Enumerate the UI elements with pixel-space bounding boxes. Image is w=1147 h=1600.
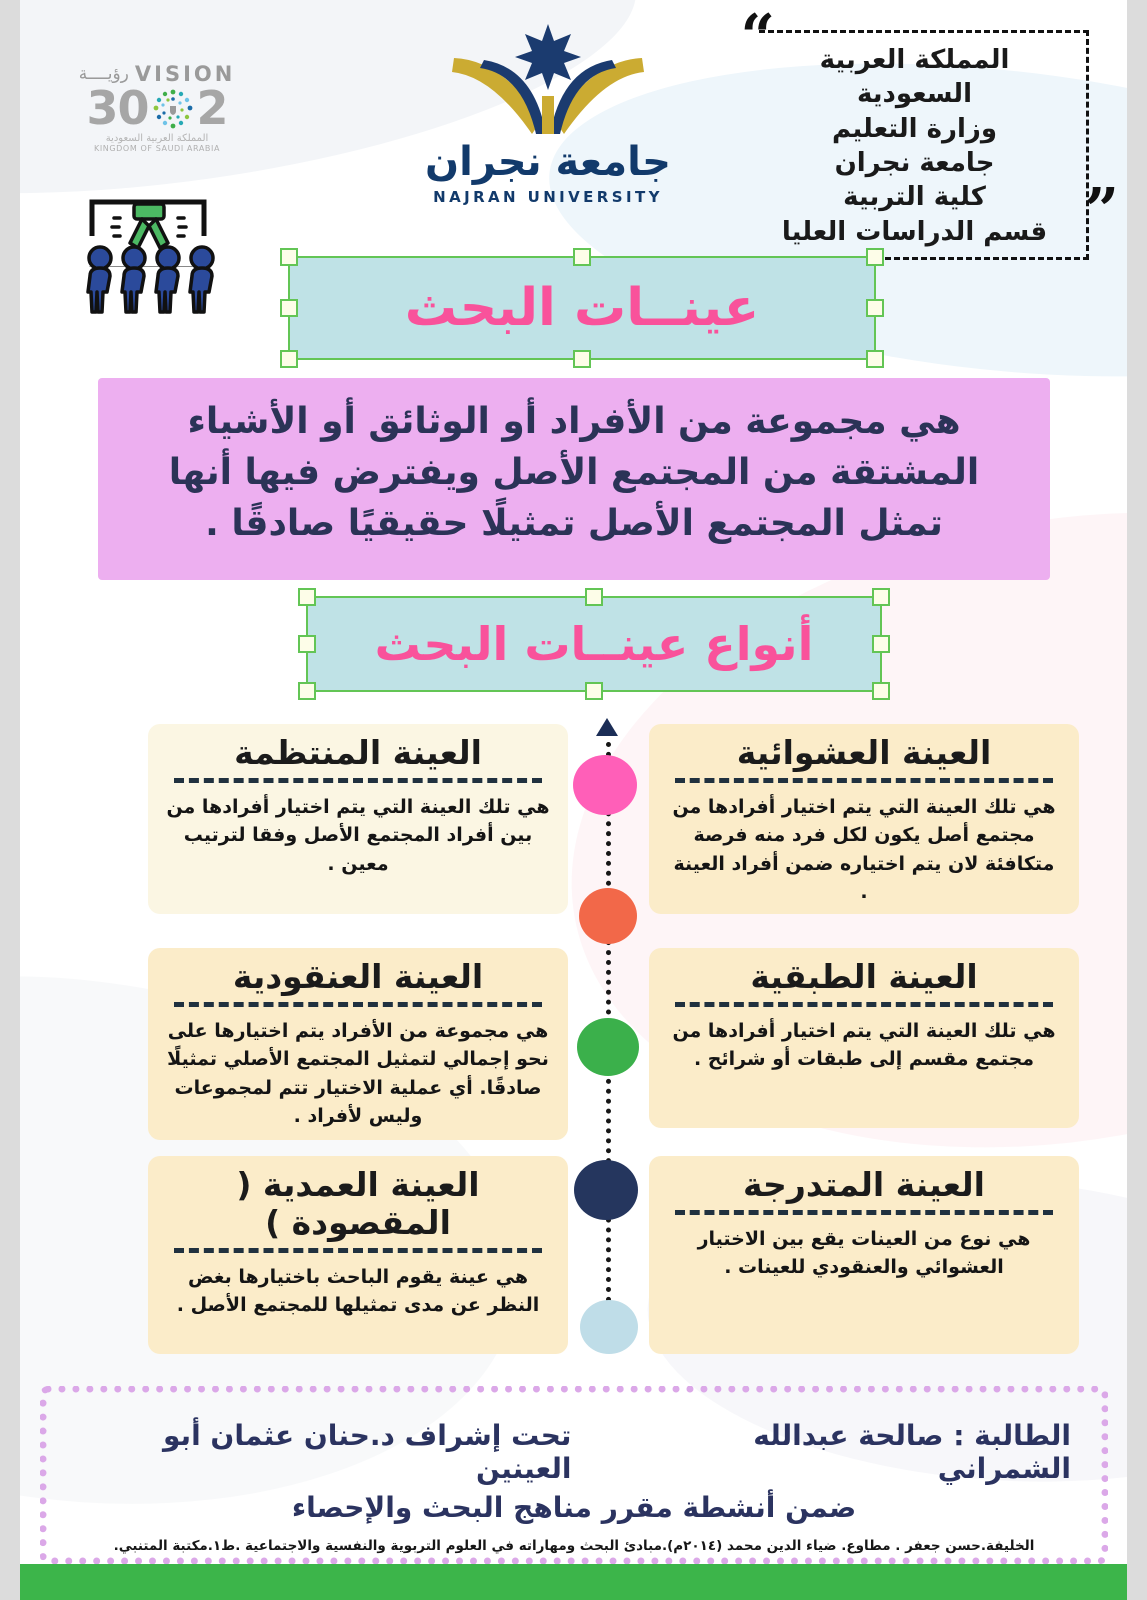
bottom-green-bar bbox=[20, 1564, 1127, 1600]
resize-handle-top-left[interactable] bbox=[280, 248, 298, 266]
resize-handle-top-right[interactable] bbox=[866, 248, 884, 266]
page-title: عينــات البحث bbox=[405, 282, 760, 334]
resize-handle-middle-left[interactable] bbox=[280, 299, 298, 317]
resize-handle-bottom-center[interactable] bbox=[573, 350, 591, 368]
card-body: هي تلك العينة التي يتم اختيار أفرادها من… bbox=[667, 793, 1061, 907]
institution-header-box: المملكة العربية السعودية وزارة التعليم ج… bbox=[759, 30, 1089, 260]
timeline-dot-3 bbox=[577, 1018, 639, 1076]
types-resize-handle-top-right[interactable] bbox=[872, 588, 890, 606]
timeline-dot-1 bbox=[573, 755, 637, 815]
resize-handle-top-center[interactable] bbox=[573, 248, 591, 266]
main-title-box[interactable]: عينــات البحث bbox=[288, 256, 876, 360]
types-title: أنواع عينــات البحث bbox=[375, 621, 814, 667]
types-resize-handle-top-center[interactable] bbox=[585, 588, 603, 606]
poster-canvas: VISION رؤيــــة 2 bbox=[0, 0, 1147, 1600]
types-resize-handle-bottom-left[interactable] bbox=[298, 682, 316, 700]
supervisor-name: تحت إشراف د.حنان عثمان أبو العينين bbox=[77, 1419, 571, 1485]
card-cluster-sample: العينة العنقودية هي مجموعة من الأفراد يت… bbox=[148, 948, 568, 1140]
card-title: العينة العمدية ( المقصودة ) bbox=[166, 1166, 550, 1242]
card-title: العينة العشوائية bbox=[667, 734, 1061, 772]
timeline-dot-4 bbox=[574, 1160, 638, 1220]
card-title: العينة العنقودية bbox=[166, 958, 550, 996]
card-multistage-sample: العينة المتدرجة هي نوع من العينات يقع بي… bbox=[649, 1156, 1079, 1354]
left-page-margin bbox=[0, 0, 20, 1600]
institution-line-1: وزارة التعليم bbox=[769, 112, 1060, 146]
card-body: هي عينة يقوم الباحث باختيارها بغض النظر … bbox=[166, 1263, 550, 1320]
vision-subtitle-english: KINGDOM OF SAUDI ARABIA bbox=[72, 144, 242, 153]
card-divider bbox=[675, 778, 1053, 783]
timeline-arrow-icon bbox=[596, 718, 618, 736]
card-title: العينة المنتظمة bbox=[166, 734, 550, 772]
vision-mandala-icon bbox=[150, 86, 196, 132]
vision-number-left: 2 bbox=[197, 87, 228, 131]
quote-close-icon: ” bbox=[1084, 190, 1119, 232]
types-resize-handle-middle-right[interactable] bbox=[872, 635, 890, 653]
university-name-arabic: جامعة نجران bbox=[398, 142, 698, 182]
right-page-margin bbox=[1127, 0, 1147, 1600]
card-divider bbox=[675, 1210, 1053, 1215]
types-resize-handle-bottom-center[interactable] bbox=[585, 682, 603, 700]
institution-line-3: كلية التربية bbox=[769, 180, 1060, 214]
najran-university-logo: جامعة نجران NAJRAN UNIVERSITY bbox=[398, 18, 698, 198]
najran-emblem-icon bbox=[398, 18, 698, 136]
types-resize-handle-bottom-right[interactable] bbox=[872, 682, 890, 700]
card-body: هي نوع من العينات يقع بين الاختيار العشو… bbox=[667, 1225, 1061, 1282]
timeline-dot-5 bbox=[580, 1300, 638, 1354]
footer-credits-row: الطالبة : صالحة عبدالله الشمراني تحت إشر… bbox=[77, 1419, 1071, 1485]
card-body: هي مجموعة من الأفراد يتم اختيارها على نح… bbox=[166, 1017, 550, 1131]
footer-box: الطالبة : صالحة عبدالله الشمراني تحت إشر… bbox=[40, 1386, 1108, 1564]
types-resize-handle-top-left[interactable] bbox=[298, 588, 316, 606]
institution-line-2: جامعة نجران bbox=[769, 146, 1060, 180]
resize-handle-bottom-left[interactable] bbox=[280, 350, 298, 368]
types-resize-handle-middle-left[interactable] bbox=[298, 635, 316, 653]
resize-handle-middle-right[interactable] bbox=[866, 299, 884, 317]
types-title-box[interactable]: أنواع عينــات البحث bbox=[306, 596, 882, 692]
institution-line-0: المملكة العربية السعودية bbox=[769, 43, 1060, 112]
institution-line-4: قسم الدراسات العليا bbox=[769, 215, 1060, 249]
definition-text: هي مجموعة من الأفراد أو الوثائق أو الأشي… bbox=[132, 396, 1016, 549]
card-stratified-sample: العينة الطبقية هي تلك العينة التي يتم اخ… bbox=[649, 948, 1079, 1128]
card-random-sample: العينة العشوائية هي تلك العينة التي يتم … bbox=[649, 724, 1079, 914]
card-body: هي تلك العينة التي يتم اختيار أفرادها من… bbox=[166, 793, 550, 879]
card-purposive-sample: العينة العمدية ( المقصودة ) هي عينة يقوم… bbox=[148, 1156, 568, 1354]
card-title: العينة الطبقية bbox=[667, 958, 1061, 996]
vision-2030-logo: VISION رؤيــــة 2 bbox=[72, 62, 242, 180]
card-body: هي تلك العينة التي يتم اختيار أفرادها من… bbox=[667, 1017, 1061, 1074]
card-title: العينة المتدرجة bbox=[667, 1166, 1061, 1204]
card-divider bbox=[675, 1002, 1053, 1007]
university-name-english: NAJRAN UNIVERSITY bbox=[398, 188, 698, 206]
sampling-people-icon bbox=[72, 196, 222, 314]
course-line: ضمن أنشطة مقرر مناهج البحث والإحصاء bbox=[77, 1491, 1071, 1524]
card-divider bbox=[174, 1002, 542, 1007]
definition-box: هي مجموعة من الأفراد أو الوثائق أو الأشي… bbox=[98, 378, 1050, 580]
vision-number: 2 bbox=[72, 86, 242, 132]
vision-number-right: 30 bbox=[86, 87, 148, 131]
card-systematic-sample: العينة المنتظمة هي تلك العينة التي يتم ا… bbox=[148, 724, 568, 914]
timeline-dot-2 bbox=[579, 888, 637, 944]
card-divider bbox=[174, 778, 542, 783]
quote-open-icon: “ bbox=[740, 16, 775, 58]
reference-citation: الخليفة.حسن جعفر . مطاوع. ضياء الدين محم… bbox=[77, 1538, 1071, 1554]
card-divider bbox=[174, 1248, 542, 1253]
resize-handle-bottom-right[interactable] bbox=[866, 350, 884, 368]
student-name: الطالبة : صالحة عبدالله الشمراني bbox=[627, 1419, 1071, 1485]
